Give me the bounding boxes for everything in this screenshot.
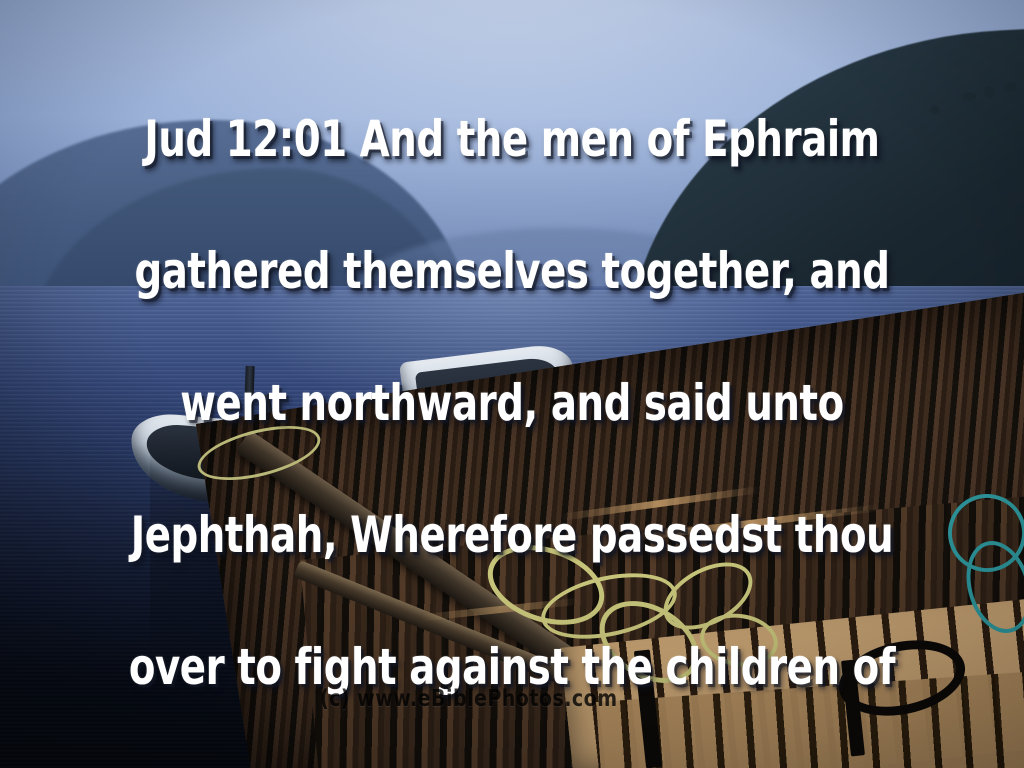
ridge-tree-1: [962, 92, 976, 101]
verse-image-canvas: Jud 12:01 And the men of Ephraim gathere…: [0, 0, 1024, 768]
ridge-tree-2: [984, 86, 995, 98]
copyright-watermark: (c) www.eBiblePhotos.com: [320, 686, 618, 712]
ridge-tree-4: [930, 106, 940, 114]
ridge-tree-3: [1004, 82, 1017, 92]
